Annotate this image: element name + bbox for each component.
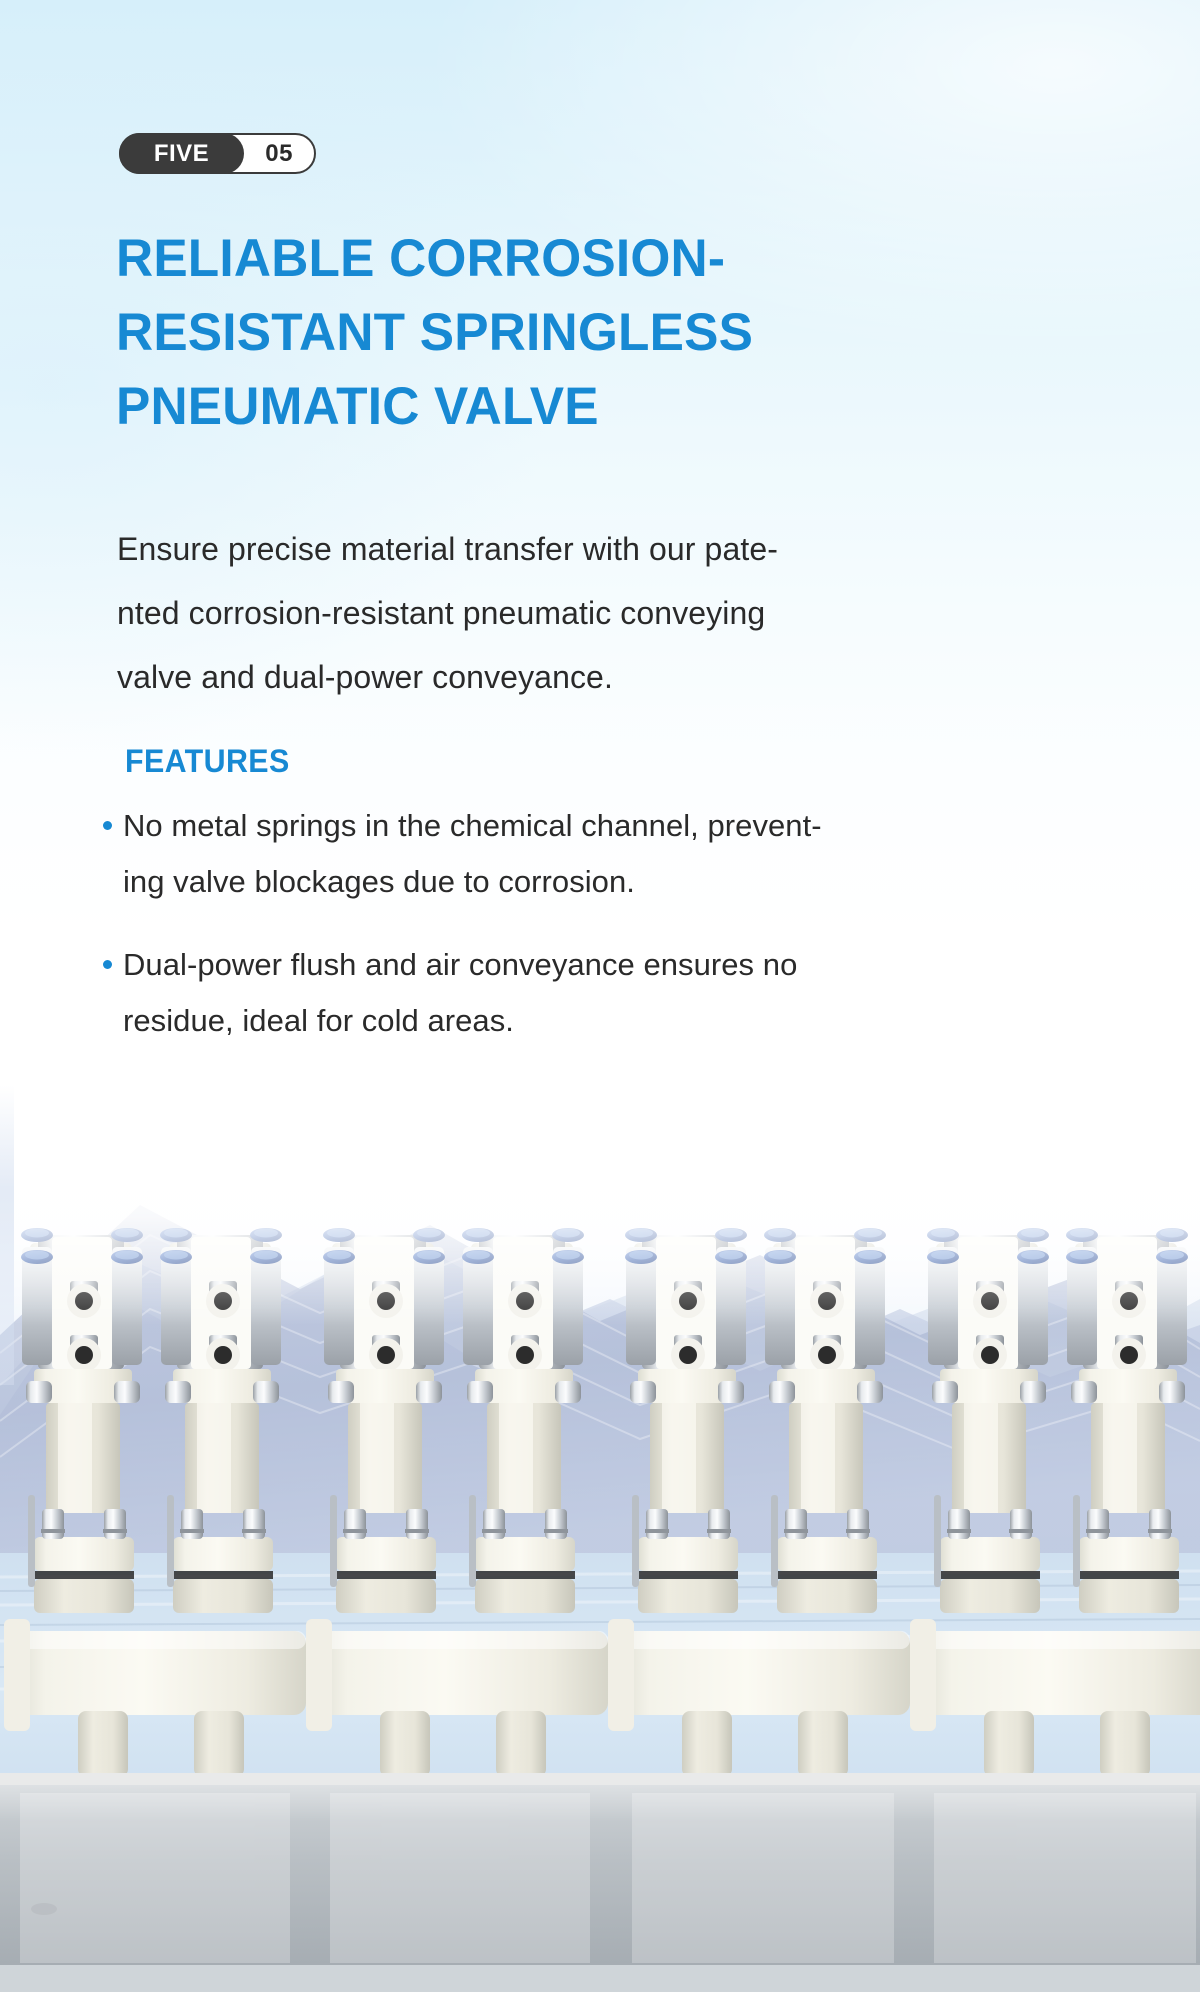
product-feature-page: FIVE 05 RELIABLE CORROSION- RESISTANT SP… [0,0,1200,1992]
bullet-dot-icon [103,821,112,830]
badge-number: 05 [265,135,293,172]
features-heading: FEATURES [125,745,290,777]
section-number-badge: FIVE 05 [119,133,316,174]
feature-text: Dual-power flush and air conveyance ensu… [123,937,1083,1049]
pneumatic-valve-array-photo [0,1085,1200,1992]
bullet-dot-icon [103,960,112,969]
list-item: Dual-power flush and air conveyance ensu… [103,937,1083,1049]
page-title: RELIABLE CORROSION- RESISTANT SPRINGLESS… [116,222,911,444]
valve-array-illustration [0,1085,1200,1992]
intro-paragraph: Ensure precise material transfer with ou… [117,517,1057,709]
badge-word-label: FIVE [154,142,209,166]
badge-number-label: 05 [265,142,293,166]
feature-text: No metal springs in the chemical channel… [123,798,1083,910]
badge-word-pill: FIVE [119,133,244,174]
list-item: No metal springs in the chemical channel… [103,798,1083,910]
